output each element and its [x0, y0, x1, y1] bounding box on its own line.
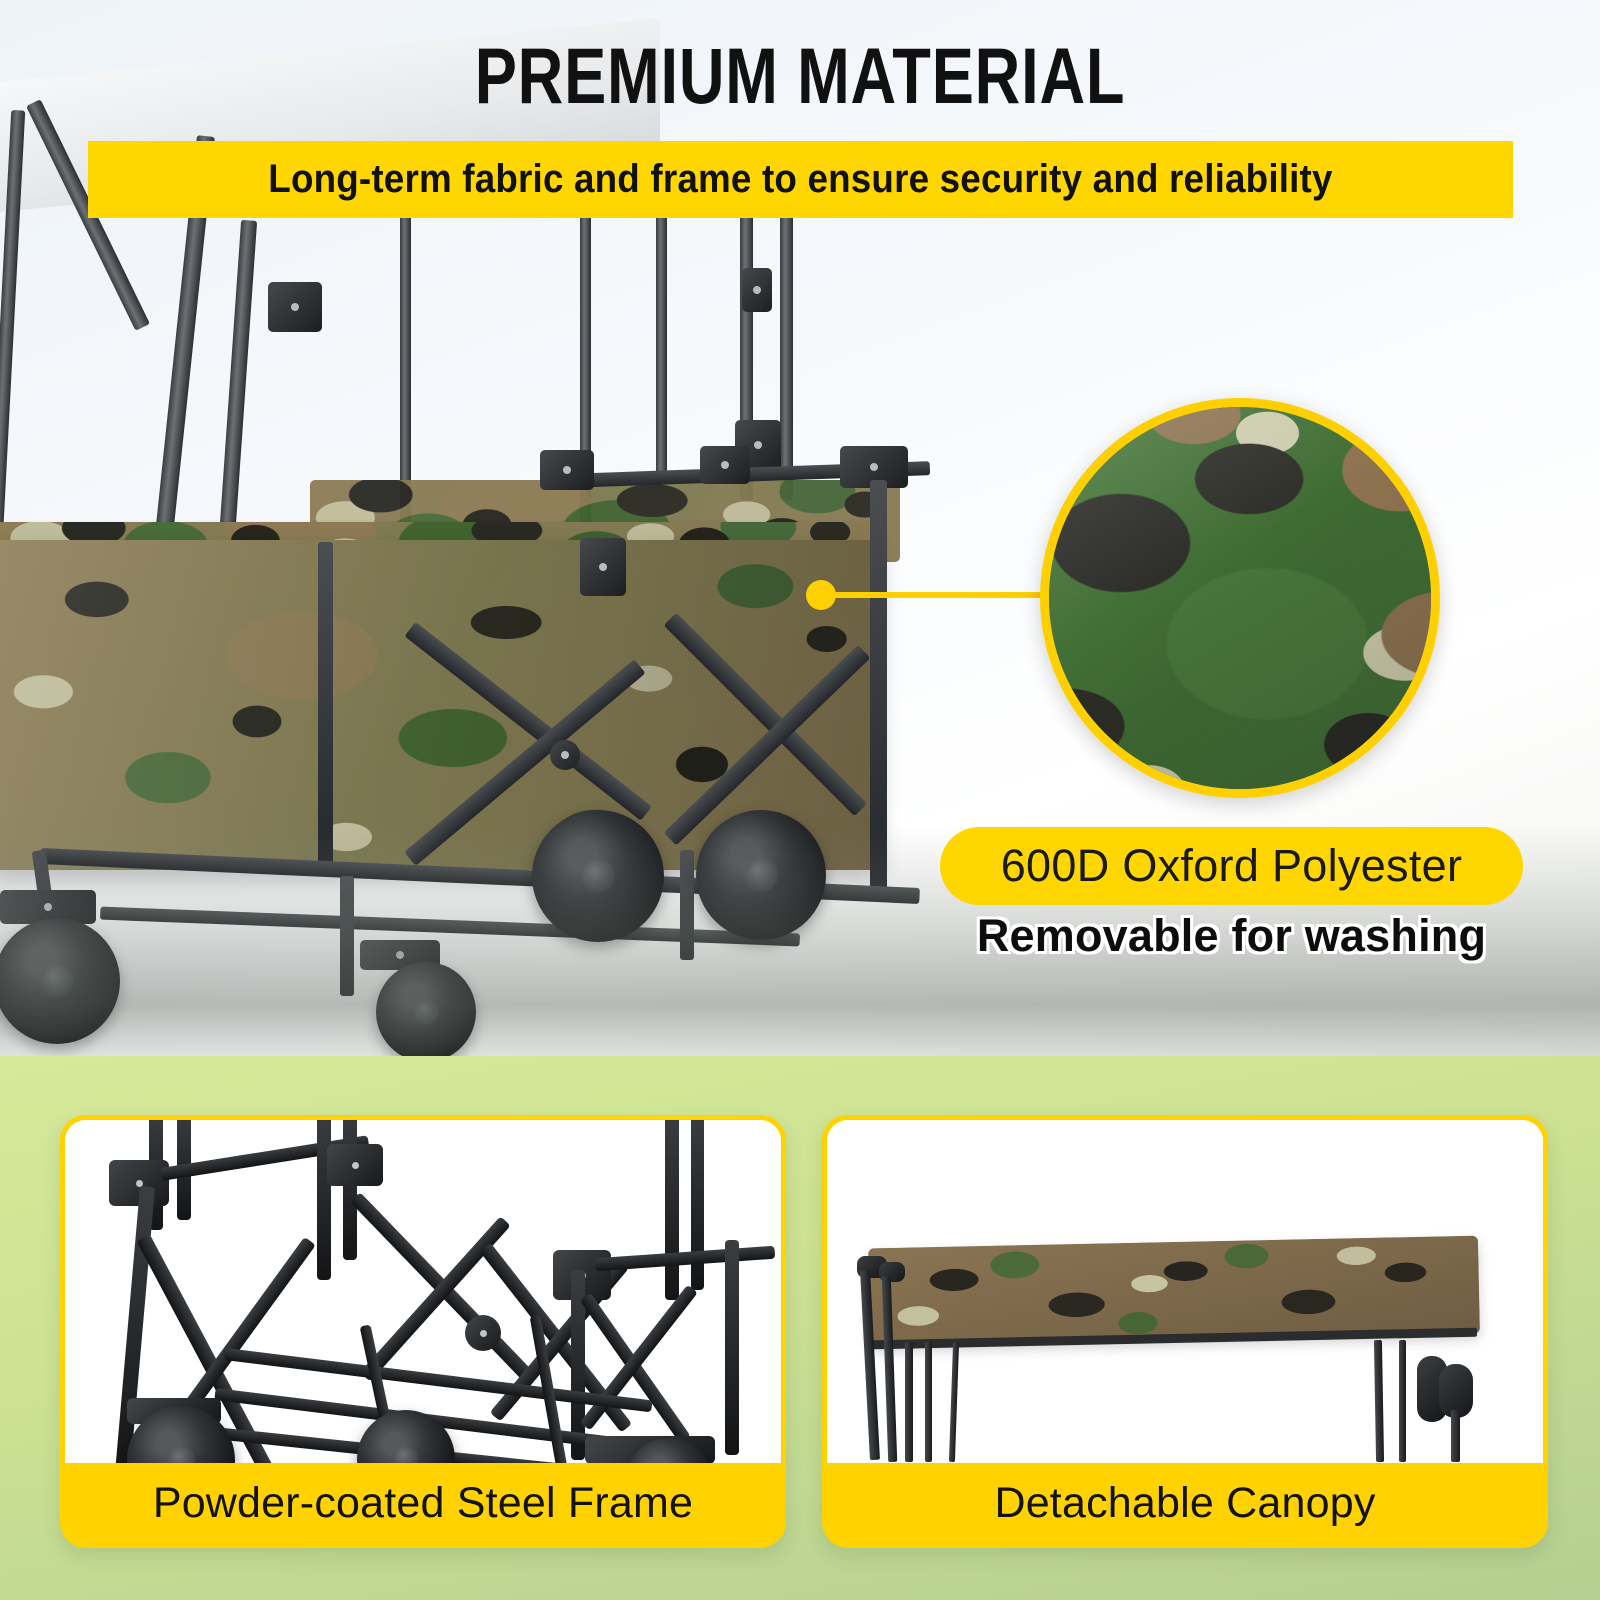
canopy-image — [827, 1120, 1543, 1463]
canopy-pole — [780, 210, 793, 500]
corner-bracket — [700, 446, 750, 484]
frame-bracket — [327, 1144, 383, 1186]
washing-note: Removable for washing — [940, 910, 1523, 962]
material-pill: 600D Oxford Polyester — [940, 827, 1523, 905]
corner-bracket — [580, 538, 626, 596]
callout-anchor-dot — [806, 580, 836, 610]
canopy-support-pole — [905, 1342, 913, 1462]
brace-hinge — [550, 740, 580, 770]
infographic-page: PREMIUM MATERIAL Long-term fabric and fr… — [0, 0, 1600, 1600]
fabric-zoom-callout — [1040, 398, 1440, 798]
pole-hinge — [268, 282, 322, 332]
page-title: PREMIUM MATERIAL — [160, 36, 1440, 115]
frame-rail — [725, 1240, 739, 1455]
panel-caption-label: Powder-coated Steel Frame — [153, 1479, 693, 1528]
folded-frame-image — [65, 1120, 781, 1463]
panel-caption-steel-frame: Powder-coated Steel Frame — [65, 1463, 781, 1543]
feature-panel-canopy: Detachable Canopy — [822, 1115, 1548, 1548]
vertical-post — [318, 542, 333, 872]
frame-rail — [691, 1120, 704, 1290]
frame-diagonal — [360, 1216, 511, 1381]
feature-panel-steel-frame: Powder-coated Steel Frame — [60, 1115, 786, 1548]
canopy-support-pole — [1399, 1340, 1406, 1462]
handle-grip — [219, 220, 257, 540]
callout-leader-line — [820, 592, 1048, 598]
subtitle-text: Long-term fabric and frame to ensure sec… — [268, 157, 1332, 202]
canopy-support-pole — [1374, 1340, 1384, 1462]
canopy-support-pole — [949, 1342, 959, 1462]
camo-fabric-closeup — [1040, 398, 1440, 798]
canopy-support-pole — [1451, 1410, 1460, 1462]
canopy-pole — [656, 175, 667, 485]
frame-pivot — [465, 1315, 501, 1351]
pole-hinge — [742, 268, 772, 312]
top-section: PREMIUM MATERIAL Long-term fabric and fr… — [0, 0, 1600, 1056]
subtitle-banner: Long-term fabric and frame to ensure sec… — [88, 141, 1513, 218]
corner-bracket — [540, 450, 594, 490]
panel-caption-label: Detachable Canopy — [994, 1479, 1375, 1528]
material-pill-label: 600D Oxford Polyester — [1001, 840, 1463, 892]
frame-rail — [665, 1120, 679, 1300]
frame-rail — [343, 1120, 357, 1260]
frame-rail — [595, 1246, 775, 1272]
canopy-support-pole — [925, 1342, 932, 1462]
panel-caption-canopy: Detachable Canopy — [827, 1463, 1543, 1543]
